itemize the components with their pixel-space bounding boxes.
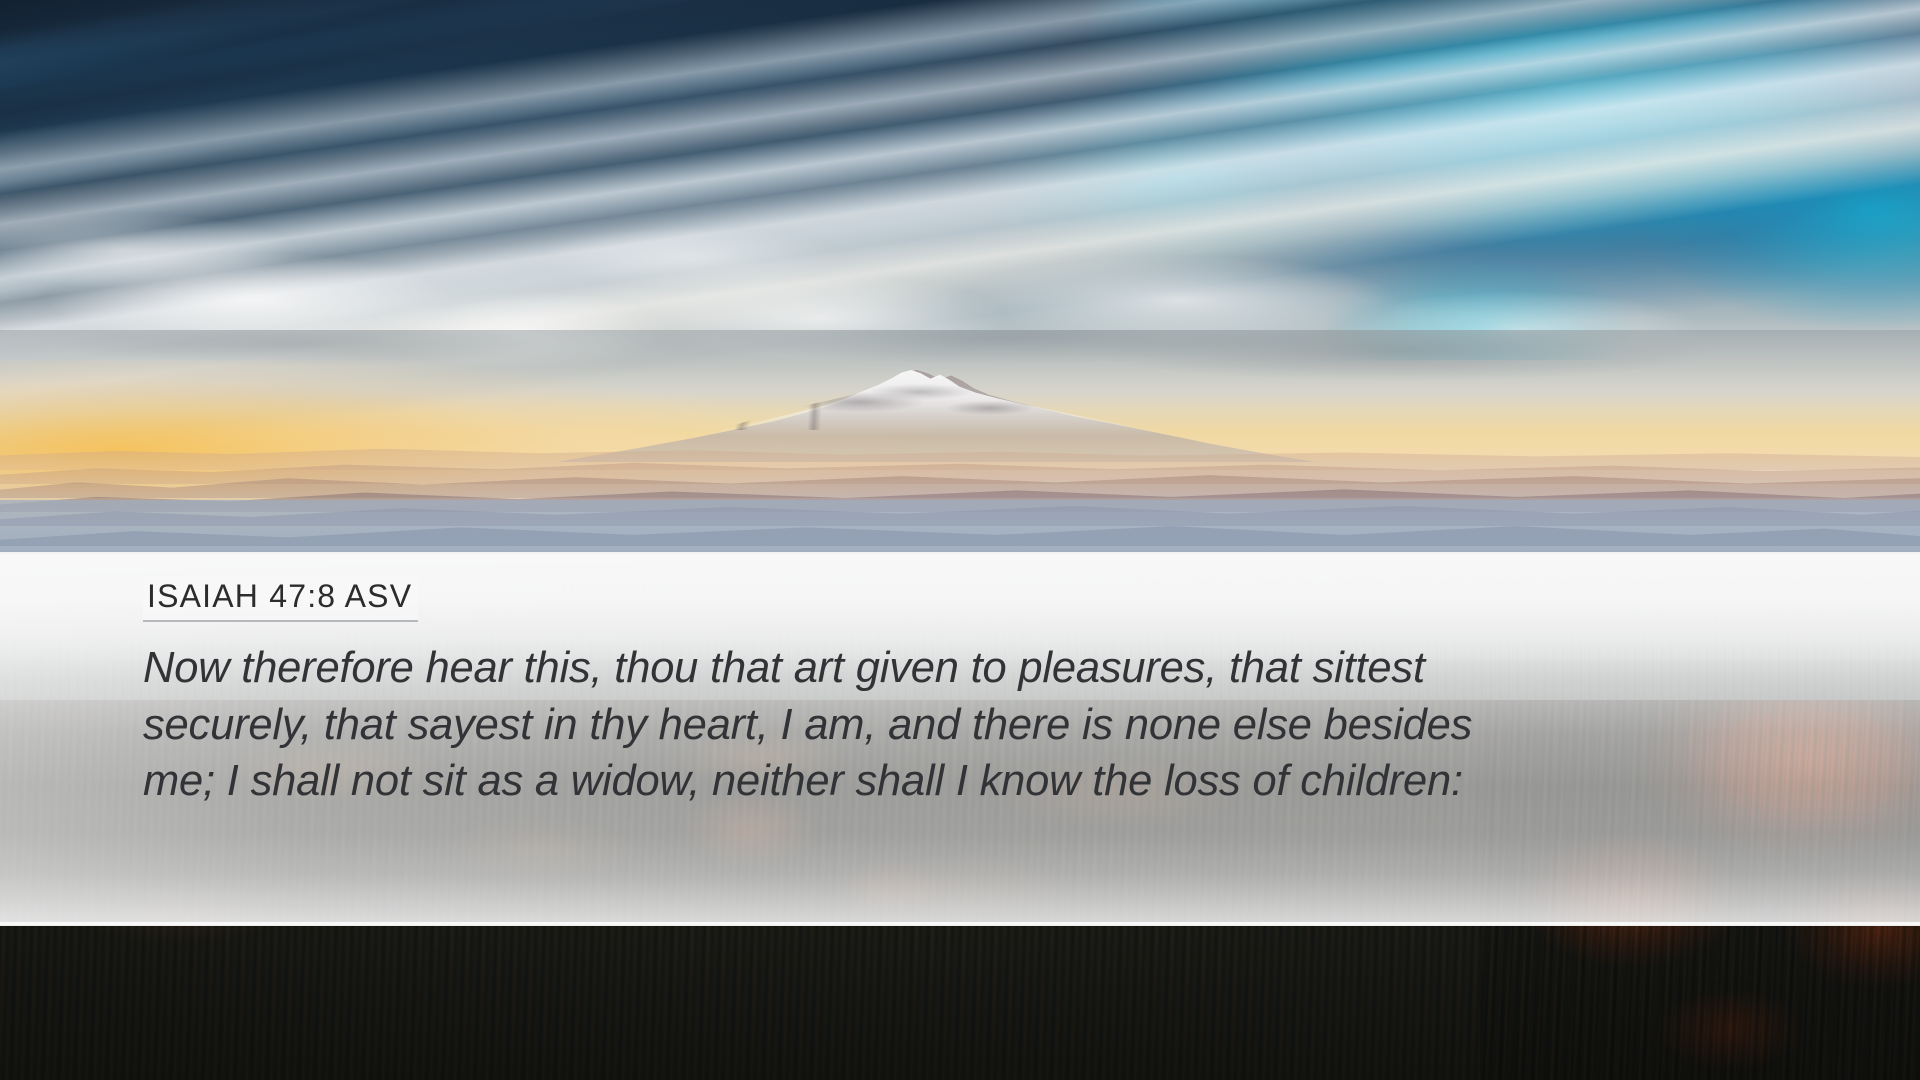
verse-reference: ISAIAH 47:8 ASV: [143, 576, 418, 622]
verse-line: me; I shall not sit as a widow, neither …: [143, 753, 1803, 810]
verse-wallpaper: ISAIAH 47:8 ASV Now therefore hear this,…: [0, 0, 1920, 1080]
overlay-bottom-rule: [0, 922, 1920, 926]
verse-line: Now therefore hear this, thou that art g…: [143, 640, 1803, 697]
verse-text-block: ISAIAH 47:8 ASV Now therefore hear this,…: [143, 576, 1803, 810]
verse-body: Now therefore hear this, thou that art g…: [143, 640, 1803, 810]
verse-line: securely, that sayest in thy heart, I am…: [143, 697, 1803, 754]
